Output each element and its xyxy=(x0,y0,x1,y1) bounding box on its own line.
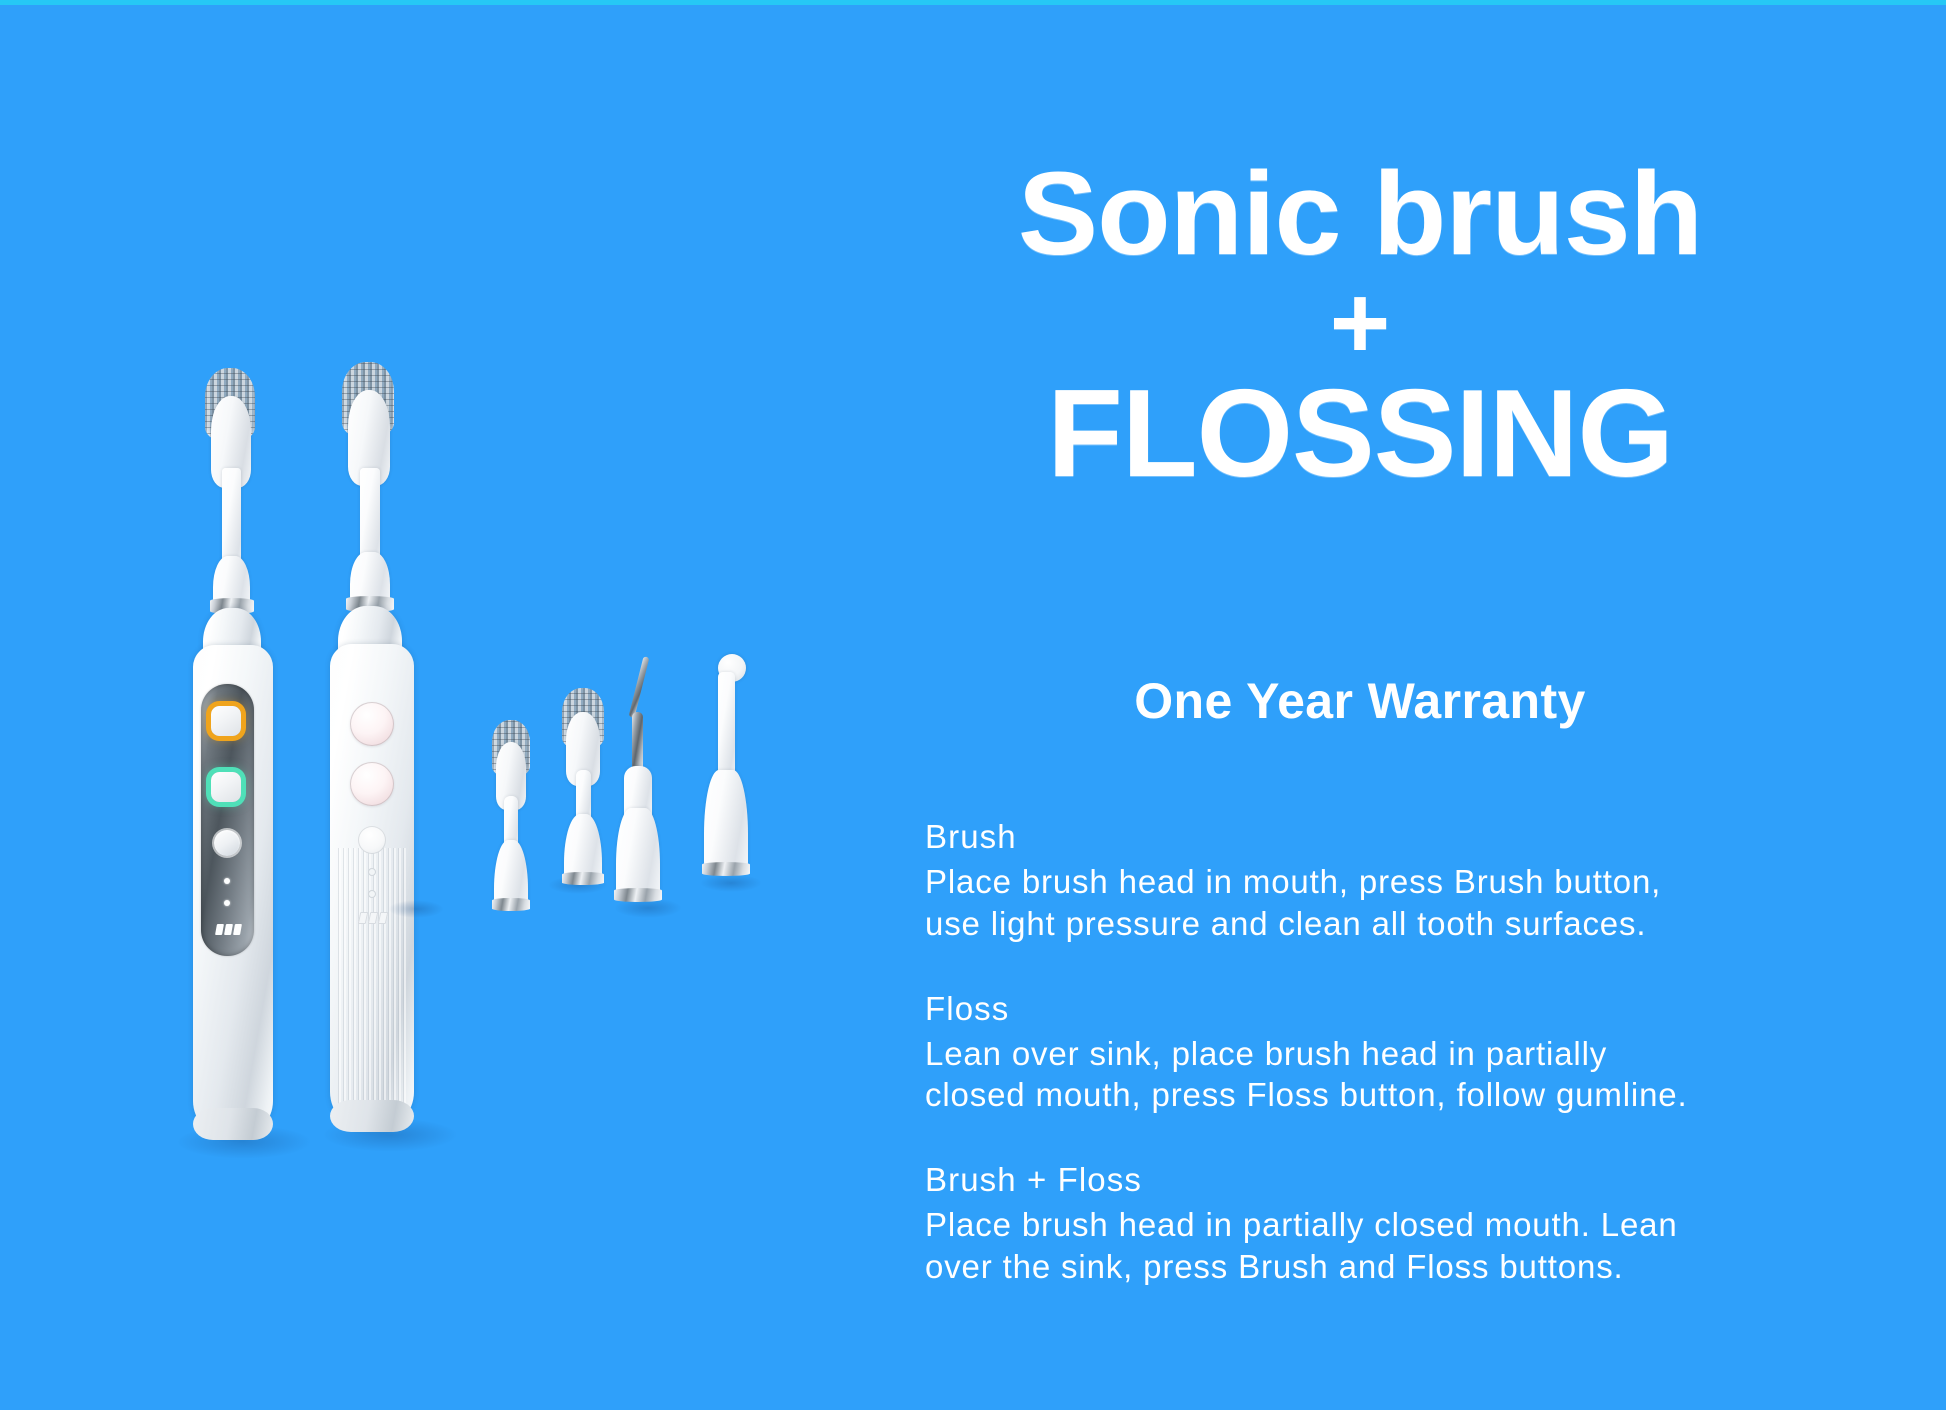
instruction-body-line: use light pressure and clean all tooth s… xyxy=(925,903,1855,945)
control-panel xyxy=(201,684,254,956)
title-line-2: FLOSSING xyxy=(950,377,1770,491)
battery-indicator-segment xyxy=(233,924,242,935)
instruction-title: Brush xyxy=(925,815,1855,859)
instructions-list: Brush Place brush head in mouth, press B… xyxy=(925,815,1855,1288)
instruction-body-line: Place brush head in partially closed mou… xyxy=(925,1204,1855,1246)
handle-base xyxy=(330,1100,414,1132)
chrome-ring xyxy=(702,862,750,876)
power-button[interactable] xyxy=(358,826,386,854)
title-line-1: Sonic brush xyxy=(942,160,1778,269)
instruction-title: Floss xyxy=(925,987,1855,1031)
head-body xyxy=(704,770,748,870)
status-dot xyxy=(224,900,230,906)
instruction-body-line: Place brush head in mouth, press Brush b… xyxy=(925,861,1855,903)
brush-mode-button[interactable] xyxy=(350,702,394,746)
product-banner: Sonic brush + FLOSSING One Year Warranty… xyxy=(0,0,1946,1410)
scaler-hook xyxy=(629,656,650,718)
instruction-section-brush: Brush Place brush head in mouth, press B… xyxy=(925,815,1855,945)
battery-indicator-segment xyxy=(215,924,224,935)
status-dot xyxy=(368,868,376,876)
head-skirt xyxy=(564,814,602,880)
floss-mode-button[interactable] xyxy=(350,762,394,806)
instruction-section-floss: Floss Lean over sink, place brush head i… xyxy=(925,987,1855,1117)
instruction-body-line: Lean over sink, place brush head in part… xyxy=(925,1033,1855,1075)
plus-symbol: + xyxy=(950,271,1770,375)
handle-base xyxy=(193,1108,273,1140)
chrome-ring xyxy=(614,888,662,902)
instruction-body-line: over the sink, press Brush and Floss but… xyxy=(925,1246,1855,1288)
instruction-title: Brush + Floss xyxy=(925,1158,1855,1202)
head-body xyxy=(616,808,660,896)
chrome-ring xyxy=(492,898,530,911)
power-button[interactable] xyxy=(214,830,240,856)
brush-mode-button[interactable] xyxy=(211,706,241,736)
page-title: Sonic brush + FLOSSING xyxy=(950,160,1770,491)
status-dot xyxy=(368,890,376,898)
instruction-body-line: closed mouth, press Floss button, follow… xyxy=(925,1074,1855,1116)
head-shadow xyxy=(700,874,762,892)
warranty-label: One Year Warranty xyxy=(950,672,1770,730)
head-skirt xyxy=(494,840,528,906)
instruction-section-brush-floss: Brush + Floss Place brush head in partia… xyxy=(925,1158,1855,1288)
floss-mode-button[interactable] xyxy=(211,772,241,802)
battery-indicator-segment xyxy=(224,924,233,935)
status-dot xyxy=(224,878,230,884)
head-shadow xyxy=(388,900,444,918)
product-photo xyxy=(0,0,900,1410)
chrome-ring xyxy=(562,872,604,885)
